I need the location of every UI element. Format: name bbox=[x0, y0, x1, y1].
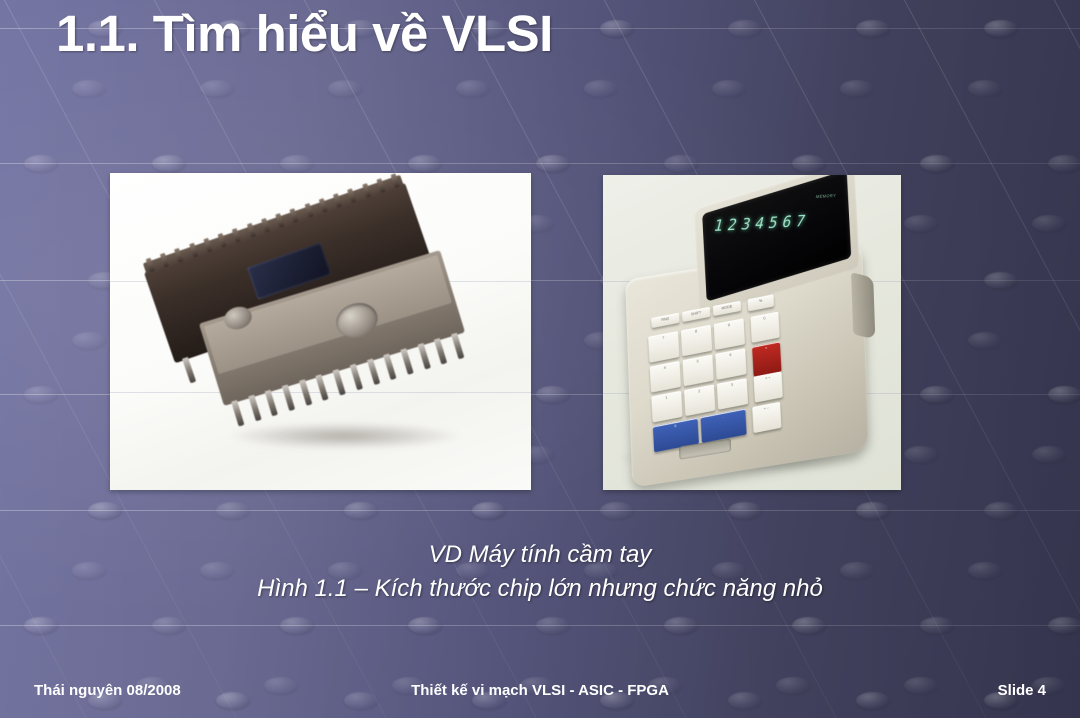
rivet-bump bbox=[984, 502, 1018, 519]
rivet-bump bbox=[1032, 446, 1066, 463]
key-times-divide: × ÷ bbox=[754, 371, 783, 402]
rivet-bump bbox=[24, 386, 58, 403]
rivet-bump bbox=[664, 617, 698, 634]
rivet-bump bbox=[984, 20, 1018, 37]
figure-calculator-photo: OVER MEMORY 1234567 RND SHIFT MODE % 7 8… bbox=[603, 175, 901, 490]
rivet-bump bbox=[72, 332, 106, 349]
calculator-device: OVER MEMORY 1234567 RND SHIFT MODE % 7 8… bbox=[616, 179, 878, 484]
rivet-bump bbox=[984, 272, 1018, 289]
rivet-bump bbox=[472, 502, 506, 519]
figure-chip-photo bbox=[110, 173, 531, 490]
rivet-bump bbox=[904, 446, 938, 463]
key-1: 1 bbox=[651, 391, 682, 423]
rivet-bump bbox=[328, 80, 362, 97]
rivet-bump bbox=[280, 155, 314, 172]
slide-title: 1.1. Tìm hiểu về VLSI bbox=[56, 4, 553, 63]
rivet-bump bbox=[840, 80, 874, 97]
rivet-bump bbox=[456, 80, 490, 97]
annunciator-memory: MEMORY bbox=[815, 193, 836, 199]
rivet-bump bbox=[152, 617, 186, 634]
key-3: 3 bbox=[717, 378, 748, 410]
key-2: 2 bbox=[684, 384, 715, 416]
rivet-bump bbox=[600, 20, 634, 37]
rivet-bump bbox=[792, 617, 826, 634]
rivet-bump bbox=[152, 155, 186, 172]
key-5: 5 bbox=[683, 355, 714, 387]
rivet-bump bbox=[792, 155, 826, 172]
calculator-side-panel bbox=[851, 272, 875, 339]
key-dot: . bbox=[701, 409, 747, 444]
rivet-bump bbox=[216, 502, 250, 519]
rivet-bump bbox=[72, 80, 106, 97]
rivet-bump bbox=[408, 617, 442, 634]
rivet-bump bbox=[1048, 155, 1080, 172]
key-6: 6 bbox=[715, 348, 746, 380]
key-4: 4 bbox=[650, 361, 681, 393]
footer-course-title: Thiết kế vi mạch VLSI - ASIC - FPGA bbox=[0, 682, 1080, 699]
rivet-bump bbox=[728, 20, 762, 37]
rivet-bump bbox=[536, 386, 570, 403]
rivet-bump bbox=[728, 502, 762, 519]
rivet-bump bbox=[664, 155, 698, 172]
chip-ground-shadow bbox=[230, 423, 460, 449]
rivet-bump bbox=[1048, 386, 1080, 403]
footer-slide-number: Slide 4 bbox=[998, 682, 1046, 699]
rivet-bump bbox=[584, 80, 618, 97]
rivet-bump bbox=[536, 617, 570, 634]
rivet-bump bbox=[1048, 617, 1080, 634]
rivet-bump bbox=[920, 155, 954, 172]
key-plus-minus: + − bbox=[752, 402, 781, 433]
rivet-bump bbox=[856, 20, 890, 37]
rivet-bump bbox=[600, 502, 634, 519]
rivet-bump bbox=[856, 502, 890, 519]
rivet-bump bbox=[920, 617, 954, 634]
rivet-bump bbox=[904, 215, 938, 232]
key-clear: C bbox=[751, 312, 780, 343]
key-8: 8 bbox=[681, 325, 712, 357]
slide-footer: Thái nguyên 08/2008 Thiết kế vi mạch VLS… bbox=[0, 682, 1080, 704]
rivet-bump bbox=[24, 155, 58, 172]
caption-line-1: VD Máy tính cầm tay bbox=[0, 538, 1080, 572]
rivet-bump bbox=[408, 155, 442, 172]
key-7: 7 bbox=[648, 331, 679, 363]
figure-caption: VD Máy tính cầm tay Hình 1.1 – Kích thướ… bbox=[0, 538, 1080, 606]
rivet-bump bbox=[712, 80, 746, 97]
caption-line-2: Hình 1.1 – Kích thước chip lớn nhưng chứ… bbox=[0, 572, 1080, 606]
rivet-bump bbox=[968, 332, 1002, 349]
rivet-bump bbox=[920, 386, 954, 403]
presentation-slide: 1.1. Tìm hiểu về VLSI bbox=[0, 0, 1080, 718]
rivet-bump bbox=[24, 617, 58, 634]
calculator-display-value: 1234567 bbox=[712, 211, 812, 235]
rivet-bump bbox=[536, 155, 570, 172]
rivet-bump bbox=[280, 617, 314, 634]
rivet-bump bbox=[1032, 215, 1066, 232]
rivet-bump bbox=[88, 502, 122, 519]
rivet-bump bbox=[200, 80, 234, 97]
rivet-bump bbox=[344, 502, 378, 519]
key-9: 9 bbox=[714, 318, 745, 350]
rivet-bump bbox=[968, 80, 1002, 97]
